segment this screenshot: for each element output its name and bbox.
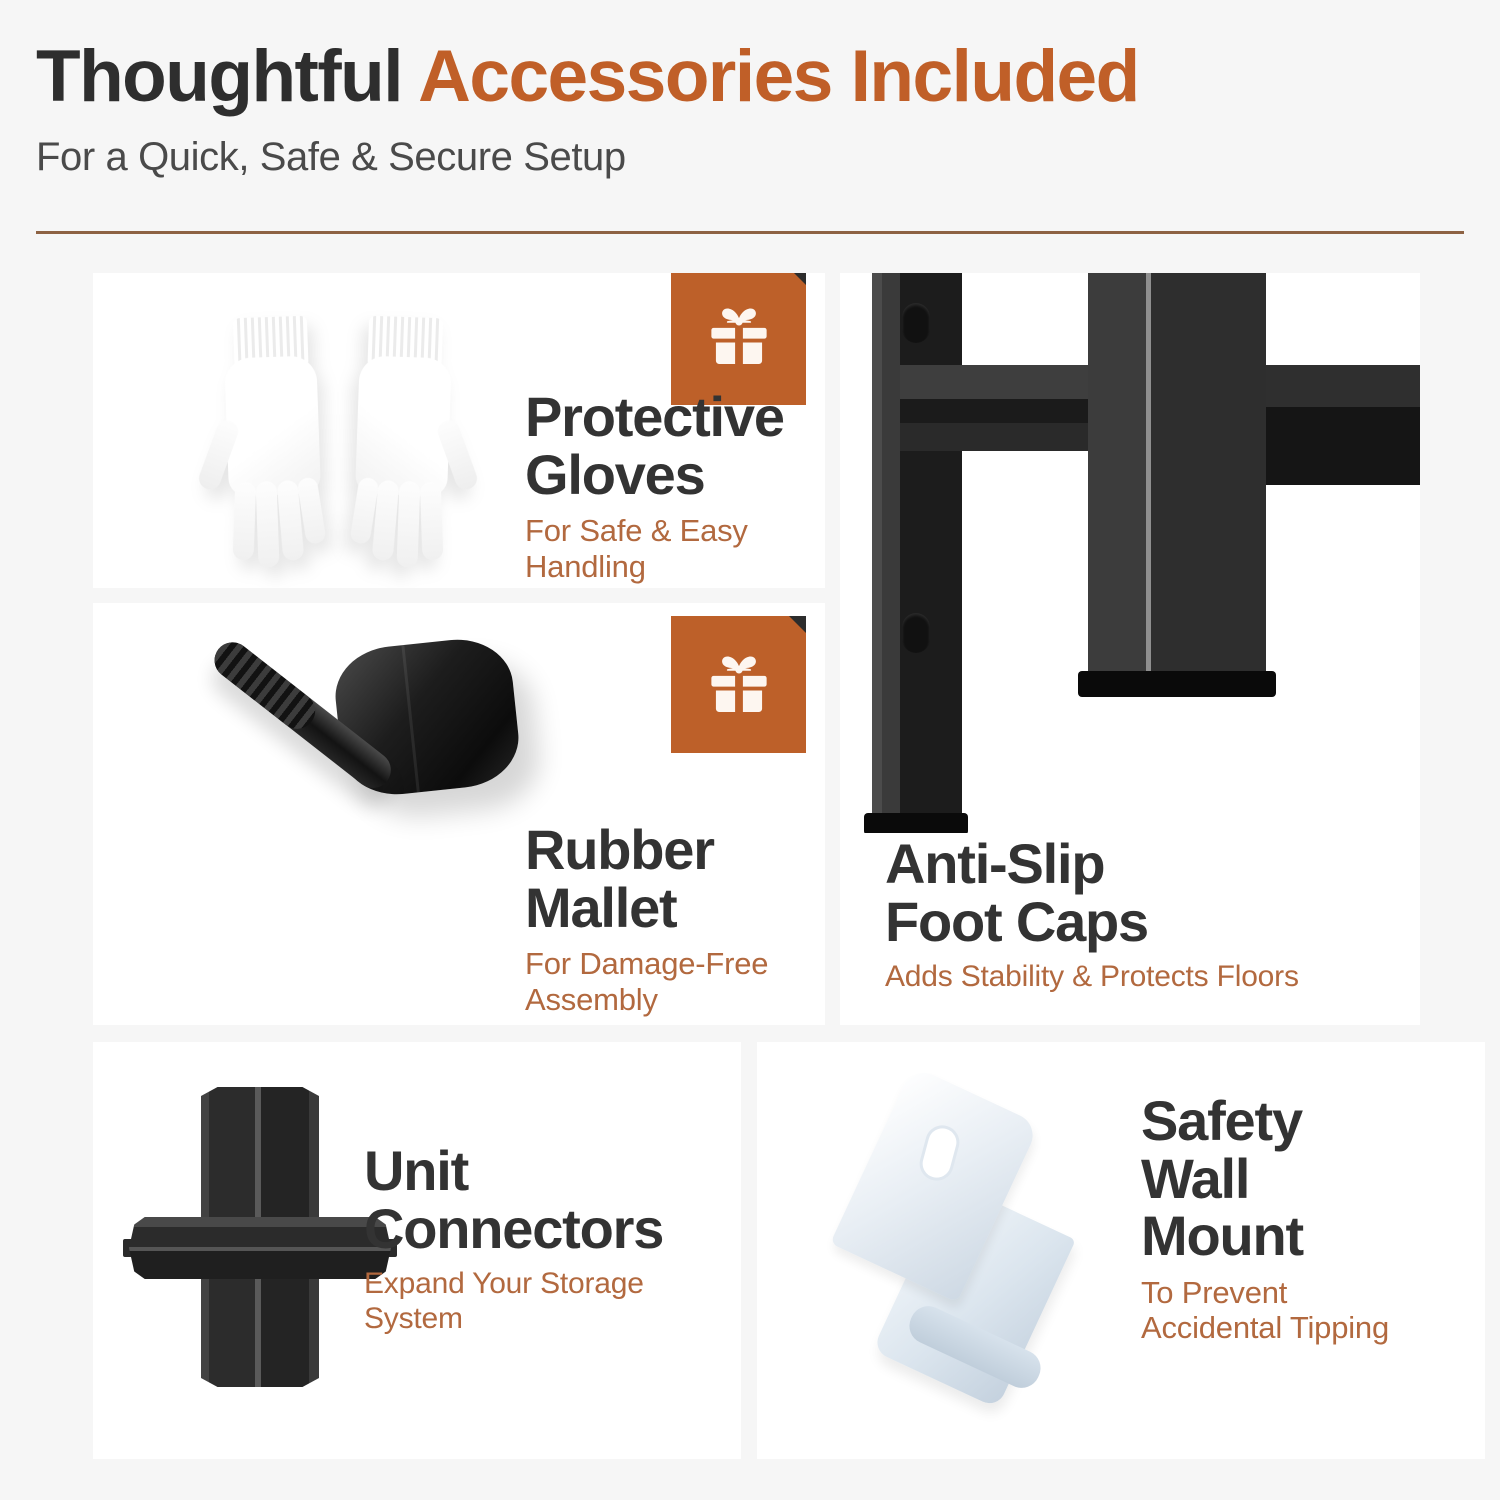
gift-icon [700, 298, 778, 376]
feet-caption: Adds Stability & Protects Floors [885, 960, 1299, 994]
card-safety-wall-mount[interactable]: Safety Wall Mount To Prevent Accidental … [757, 1042, 1485, 1459]
wall-mount-image [819, 1072, 1119, 1402]
mallet-headline-line1: Rubber [525, 821, 825, 879]
wall-mount-keyhole-slot [916, 1122, 963, 1185]
connector-text-block: Unit Connectors Expand Your Storage Syst… [364, 1142, 741, 1336]
card-protective-gloves[interactable]: Protective Gloves For Safe & Easy Handli… [93, 273, 825, 588]
connector-headline-line2: Connectors [364, 1200, 741, 1258]
glove-palm [355, 355, 452, 496]
feet-text-block: Anti-Slip Foot Caps Adds Stability & Pro… [885, 835, 1299, 995]
foot-cap [864, 813, 968, 833]
gloves-text-block: Protective Gloves For Safe & Easy Handli… [525, 388, 825, 584]
foot-cap [1078, 671, 1276, 697]
connector-headline-line1: Unit [364, 1142, 741, 1200]
wallmount-headline: Safety Wall Mount [1141, 1092, 1389, 1265]
shelf-front-leg [1088, 273, 1266, 681]
badge-fold-corner [789, 273, 806, 285]
shelf-back-leg [872, 273, 962, 823]
shelf-slot [902, 303, 930, 343]
glove-finger [256, 481, 280, 568]
connector-caption: Expand Your Storage System [364, 1267, 741, 1335]
mallet-headline: Rubber Mallet [525, 821, 825, 936]
feet-headline: Anti-Slip Foot Caps [885, 835, 1299, 950]
connector-image [123, 1077, 393, 1407]
shelf-plank-right [1250, 365, 1420, 485]
gift-icon [700, 646, 778, 724]
gloves-headline-line2: Gloves [525, 446, 825, 504]
card-rubber-mallet[interactable]: Rubber Mallet For Damage-Free Assembly [93, 603, 825, 1025]
gloves-headline-line1: Protective [525, 388, 825, 446]
glove-finger [396, 481, 420, 568]
glove-finger [420, 482, 444, 561]
wallmount-text-block: Safety Wall Mount To Prevent Accidental … [1141, 1092, 1389, 1346]
wallmount-headline-line2: Wall [1141, 1150, 1389, 1208]
shelf-slot [902, 613, 930, 653]
wallmount-caption-line1: To Prevent [1141, 1275, 1389, 1310]
gloves-headline: Protective Gloves [525, 388, 825, 503]
mallet-image [113, 613, 533, 1013]
wallmount-headline-line3: Mount [1141, 1207, 1389, 1265]
mallet-text-block: Rubber Mallet For Damage-Free Assembly [525, 821, 825, 1017]
gloves-image [203, 295, 503, 575]
wallmount-caption-line2: Accidental Tipping [1141, 1310, 1389, 1345]
wallmount-headline-line1: Safety [1141, 1092, 1389, 1150]
gloves-caption: For Safe & Easy Handling [525, 513, 825, 584]
wallmount-caption: To Prevent Accidental Tipping [1141, 1275, 1389, 1346]
card-anti-slip-foot-caps[interactable]: Anti-Slip Foot Caps Adds Stability & Pro… [840, 273, 1420, 1025]
feet-headline-line2: Foot Caps [885, 893, 1299, 951]
gift-badge [671, 616, 806, 753]
mallet-grip [207, 635, 322, 736]
glove-right [339, 309, 470, 565]
mallet-caption: For Damage-Free Assembly [525, 946, 825, 1017]
glove-finger [233, 482, 257, 561]
accessories-grid: Protective Gloves For Safe & Easy Handli… [0, 0, 1500, 1500]
glove-palm [224, 355, 321, 496]
card-unit-connectors[interactable]: Unit Connectors Expand Your Storage Syst… [93, 1042, 741, 1459]
mallet-headline-line2: Mallet [525, 879, 825, 937]
feet-headline-line1: Anti-Slip [885, 835, 1299, 893]
shelf-leg-image [840, 273, 1420, 833]
connector-horizontal-arm [129, 1217, 391, 1279]
badge-fold-corner [789, 616, 806, 633]
connector-headline: Unit Connectors [364, 1142, 741, 1257]
glove-left [207, 309, 338, 565]
